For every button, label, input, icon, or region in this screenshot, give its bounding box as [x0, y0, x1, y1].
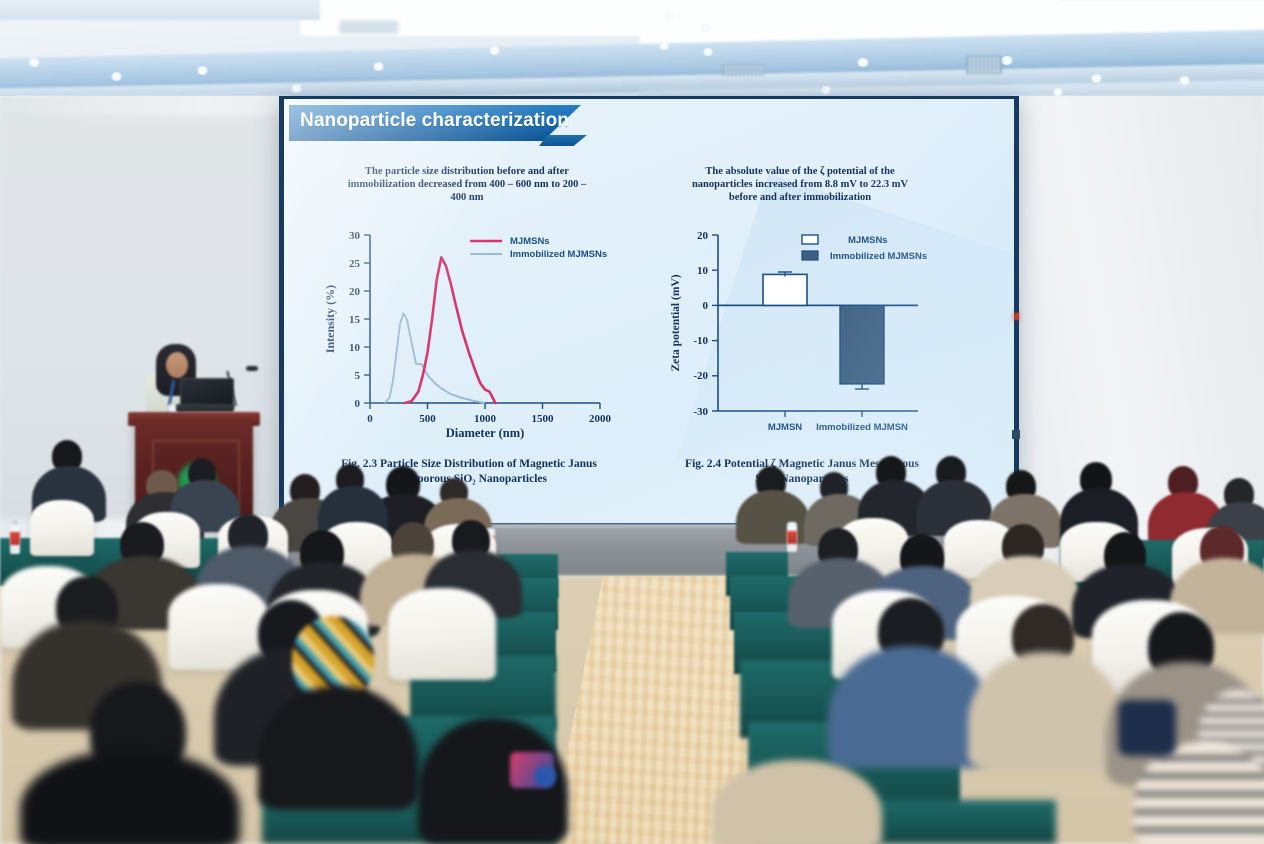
ceiling-downlight [700, 24, 712, 32]
legend-label-mjmsns: MJMSNs [848, 235, 888, 246]
air-diffuser-vent [966, 56, 1002, 74]
bottle-label [10, 532, 20, 545]
svg-text:-20: -20 [693, 370, 708, 382]
bar-mjmsn [763, 274, 807, 305]
y-tick-marks [712, 235, 718, 411]
bottle-label [787, 531, 797, 544]
left-panel-heading-text: The particle size distribution before an… [348, 166, 586, 203]
ceiling-downlight [664, 12, 676, 20]
audience-chair [388, 588, 496, 680]
svg-text:20: 20 [697, 230, 709, 242]
ceiling-downlight [820, 86, 832, 94]
ceiling-panel-grille [340, 21, 398, 33]
x-category-labels: MJMSN Immobilized MJMSN [768, 422, 908, 433]
legend-label-immobilized: Immobilized MJMSNs [830, 251, 927, 262]
ceiling-downlight [290, 84, 303, 93]
ceiling-downlight [856, 58, 870, 67]
ceiling-downlight [1090, 74, 1103, 83]
ceiling-downlight [110, 72, 123, 81]
svg-text:0: 0 [367, 413, 373, 425]
right-panel-heading: The absolute value of the ζ potential of… [682, 165, 918, 204]
series-mjmsns-curve [405, 257, 496, 403]
svg-text:25: 25 [349, 258, 361, 270]
ceiling-strip-left [0, 0, 320, 20]
svg-text:10: 10 [349, 342, 361, 354]
svg-text:30: 30 [349, 230, 361, 242]
bar-immobilized-mjmsn [840, 305, 884, 384]
chart-particle-size-distribution: 302520 15105 0 05001000 15002000 Diamete… [318, 221, 618, 441]
microphone-icon [246, 366, 258, 371]
y-axis-label: Zeta potential (mV) [670, 274, 682, 371]
ceiling-downlight [372, 62, 385, 71]
svg-text:MJMSN: MJMSN [768, 422, 802, 433]
figure-caption-left: Fig. 2.3 Particle Size Distribution of M… [324, 457, 614, 487]
figure-caption-left-text: Fig. 2.3 Particle Size Distribution of M… [341, 458, 597, 485]
ceiling-downlight [196, 66, 209, 75]
screen-mount-clip [1012, 430, 1020, 439]
ceiling-downlight [488, 46, 501, 55]
screen-power-indicator-icon [1014, 313, 1019, 320]
bottle-cap [12, 520, 18, 525]
svg-text:-30: -30 [693, 406, 708, 418]
svg-text:500: 500 [419, 413, 436, 425]
chart-legend: MJMSNs Immobilized MJMSNs [470, 236, 607, 260]
legend-swatch-mjmsns [802, 235, 818, 244]
svg-text:10: 10 [697, 265, 709, 277]
y-axis-label: Intensity (%) [323, 285, 337, 353]
slide-title: Nanoparticle characterization [300, 110, 569, 132]
x-category-ticks [785, 411, 862, 417]
zeta-potential-svg: 20100 -10-20-30 Zeta potential (mV) MJMS… [662, 221, 938, 441]
svg-text:20: 20 [349, 286, 361, 298]
y-tick-labels: 302520 15105 0 [349, 230, 361, 410]
laptop-base [176, 404, 234, 412]
y-tick-labels: 20100 -10-20-30 [693, 230, 708, 418]
chart-legend: MJMSNs Immobilized MJMSNs [802, 235, 927, 262]
svg-text:-10: -10 [693, 335, 708, 347]
legend-label-mjmsns: MJMSNs [510, 236, 550, 247]
audience-chair [30, 500, 94, 556]
particle-size-svg: 302520 15105 0 05001000 15002000 Diamete… [318, 221, 618, 441]
audience-shoulders [736, 490, 810, 544]
ceiling-downlight [1052, 88, 1064, 96]
ceiling-downlight [702, 48, 714, 56]
air-diffuser-vent-2 [722, 64, 764, 76]
ceiling-downlight [1178, 76, 1191, 85]
svg-text:15: 15 [349, 314, 361, 326]
ceiling-downlight [27, 58, 41, 67]
svg-text:2000: 2000 [589, 413, 612, 425]
speaker-face [166, 352, 188, 378]
svg-text:0: 0 [355, 398, 361, 410]
svg-text:5: 5 [355, 370, 361, 382]
x-tick-labels: 05001000 15002000 [367, 413, 611, 425]
x-axis-label: Diameter (nm) [446, 426, 525, 440]
left-panel-heading: The particle size distribution before an… [342, 165, 592, 204]
svg-text:0: 0 [703, 300, 709, 312]
right-panel-heading-text: The absolute value of the ζ potential of… [692, 166, 908, 203]
chart-zeta-potential: 20100 -10-20-30 Zeta potential (mV) MJMS… [662, 221, 938, 441]
svg-text:1000: 1000 [474, 413, 497, 425]
legend-label-immobilized: Immobilized MJMSNs [510, 249, 607, 260]
y-tick-marks [364, 235, 370, 403]
ceiling-downlight [658, 42, 670, 50]
presentation-room-photo: Nanoparticle characterization The partic… [0, 0, 1264, 844]
svg-text:Immobilized MJMSN: Immobilized MJMSN [816, 422, 908, 433]
projection-screen: Nanoparticle characterization The partic… [284, 99, 1014, 523]
ceiling-downlight [1000, 56, 1014, 65]
floor-bag-accent [534, 766, 556, 786]
legend-swatch-immobilized [802, 251, 818, 260]
floor-backpack [1118, 700, 1176, 756]
svg-text:1500: 1500 [532, 413, 555, 425]
